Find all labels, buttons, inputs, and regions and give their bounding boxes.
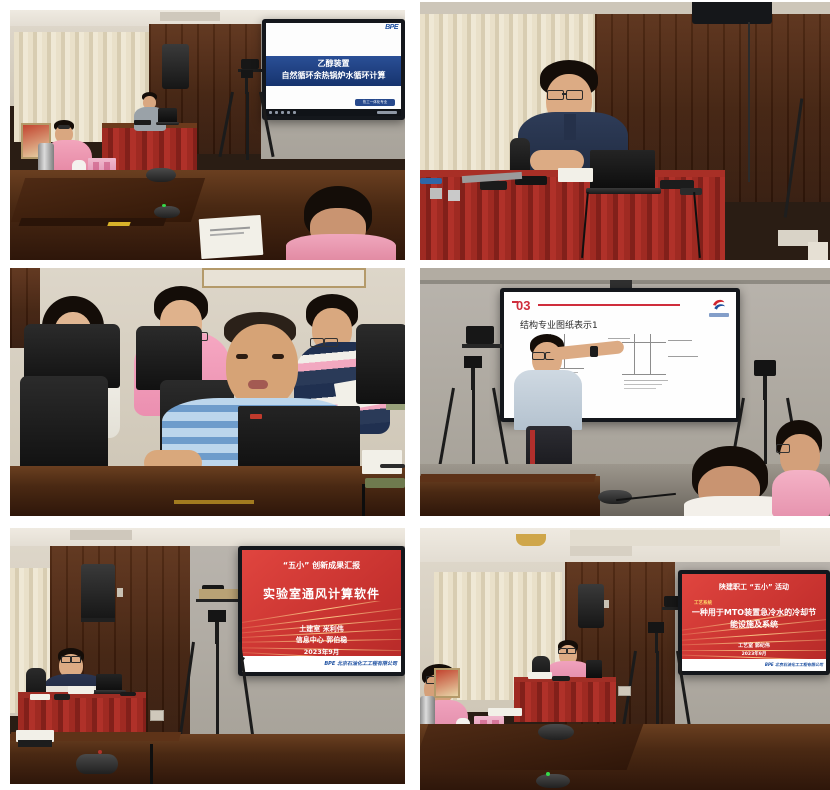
wall-picture	[434, 668, 460, 698]
tripod-camera	[225, 70, 265, 160]
slide-section-number: 03	[516, 298, 530, 313]
photo-5[interactable]: “五小” 创新成果汇报 实验室通风计算软件 土建室 米利伟 信息中心 郭伯稳 2…	[10, 528, 405, 784]
red-draped-table	[18, 696, 146, 734]
slide-author-2: 信息中心 郭伯稳	[242, 635, 401, 645]
tripod-camera	[190, 610, 242, 750]
tripod-camera-left	[448, 356, 498, 478]
shelf-camera	[241, 59, 259, 69]
photo-4-image: 03 结构专业图纸表示1	[420, 268, 830, 516]
photo-2-image	[420, 2, 830, 260]
wall-artwork	[202, 268, 366, 288]
conference-speakerphone	[538, 724, 574, 740]
slide-tag: 工艺系统	[694, 600, 712, 606]
conference-speakerphone	[76, 754, 118, 774]
slide-main-title-line-1: 一种用于MTO装置急冷水的冷却节	[682, 607, 826, 618]
slide-footer-logo: BPE 北京石油化工工程有限公司	[765, 662, 823, 668]
ceiling-speaker	[578, 584, 604, 628]
conference-speakerphone	[146, 168, 176, 182]
wall-display: “五小” 创新成果汇报 实验室通风计算软件 土建室 米利伟 信息中心 郭伯稳 2…	[238, 546, 405, 676]
photo-collage: BPE 乙醇装置 自然循环余热锅炉水循环计算 热工一体化专业	[0, 0, 830, 790]
slide-red-title-lab: “五小” 创新成果汇报 实验室通风计算软件 土建室 米利伟 信息中心 郭伯稳 2…	[242, 550, 401, 672]
bpe-logo: BPE	[385, 24, 398, 31]
conference-microphone	[536, 774, 570, 788]
slide-footer-logo: BPE 北京石油化工工程有限公司	[324, 660, 397, 667]
slide-blue-title: BPE 乙醇装置 自然循环余热锅炉水循环计算 热工一体化专业	[266, 23, 401, 116]
wall-display: BPE 乙醇装置 自然循环余热锅炉水循环计算 热工一体化专业	[262, 19, 405, 120]
conference-microphone	[154, 206, 180, 218]
slide-footer: BPE 北京石油化工工程有限公司	[242, 656, 401, 672]
taskbar	[266, 109, 401, 116]
conference-table	[10, 734, 405, 784]
ceiling-speaker	[162, 44, 189, 89]
slide-section-title: 结构专业图纸表示1	[520, 318, 598, 331]
photo-1-image: BPE 乙醇装置 自然循环余热锅炉水循环计算 热工一体化专业	[10, 10, 405, 260]
company-logo	[708, 297, 730, 319]
laptop	[586, 660, 602, 678]
wall-display: 陕建职工 “五小” 活动 工艺系统 一种用于MTO装置急冷水的冷却节 能设施及系…	[678, 570, 830, 675]
slide-main-title: 实验室通风计算软件	[242, 585, 401, 602]
shelf-camera	[466, 326, 494, 344]
presenter-table	[102, 126, 197, 170]
red-draped-table	[514, 680, 616, 722]
photo-3[interactable]	[10, 268, 405, 516]
slide-red-title-mto: 陕建职工 “五小” 活动 工艺系统 一种用于MTO装置急冷水的冷却节 能设施及系…	[682, 574, 826, 671]
photo-4[interactable]: 03 结构专业图纸表示1	[420, 268, 830, 516]
slide-date: 2023年9月	[682, 651, 826, 657]
handout-paper	[199, 215, 264, 259]
audience-back-right	[772, 420, 830, 516]
slide-subtitle-badge: 热工一体化专业	[355, 99, 395, 106]
photo-6-image: 陕建职工 “五小” 活动 工艺系统 一种用于MTO装置急冷水的冷却节 能设施及系…	[420, 528, 830, 790]
slide-main-title-line-2: 能设施及系统	[682, 619, 826, 630]
slide-author-1: 工艺室 郭纪伟	[682, 642, 826, 649]
photo-1[interactable]: BPE 乙醇装置 自然循环余热锅炉水循环计算 热工一体化专业	[10, 10, 405, 260]
slide-title-line-2: 自然循环余热锅炉水循环计算	[266, 70, 401, 81]
laptop	[590, 150, 655, 190]
ceiling-speaker	[81, 564, 115, 620]
conference-table	[10, 466, 405, 516]
slide-header: 陕建职工 “五小” 活动	[682, 582, 826, 592]
slide-author-1: 土建室 米利伟	[242, 624, 401, 634]
photo-5-image: “五小” 创新成果汇报 实验室通风计算软件 土建室 米利伟 信息中心 郭伯稳 2…	[10, 528, 405, 784]
foreground-attendee	[286, 186, 396, 260]
photo-2[interactable]	[420, 2, 830, 260]
slide-header: “五小” 创新成果汇报	[242, 560, 401, 571]
slide-date: 2023年9月	[242, 646, 401, 656]
slide-footer: BPE 北京石油化工工程有限公司	[682, 659, 826, 671]
photo-3-image	[10, 268, 405, 516]
photo-6[interactable]: 陕建职工 “五小” 活动 工艺系统 一种用于MTO装置急冷水的冷却节 能设施及系…	[420, 528, 830, 790]
slide-title-line-1: 乙醇装置	[266, 58, 401, 69]
